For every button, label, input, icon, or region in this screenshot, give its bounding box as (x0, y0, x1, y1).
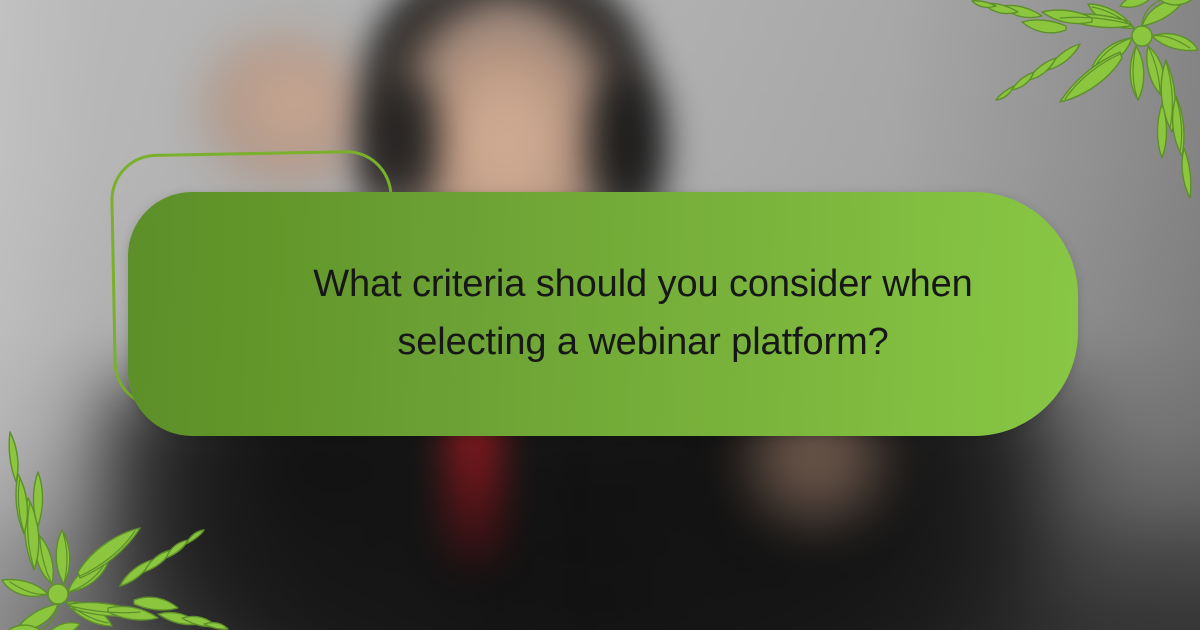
question-card: What criteria should you consider when s… (128, 192, 1078, 436)
poster-canvas: What criteria should you consider when s… (0, 0, 1200, 630)
question-title: What criteria should you consider when s… (293, 256, 993, 372)
